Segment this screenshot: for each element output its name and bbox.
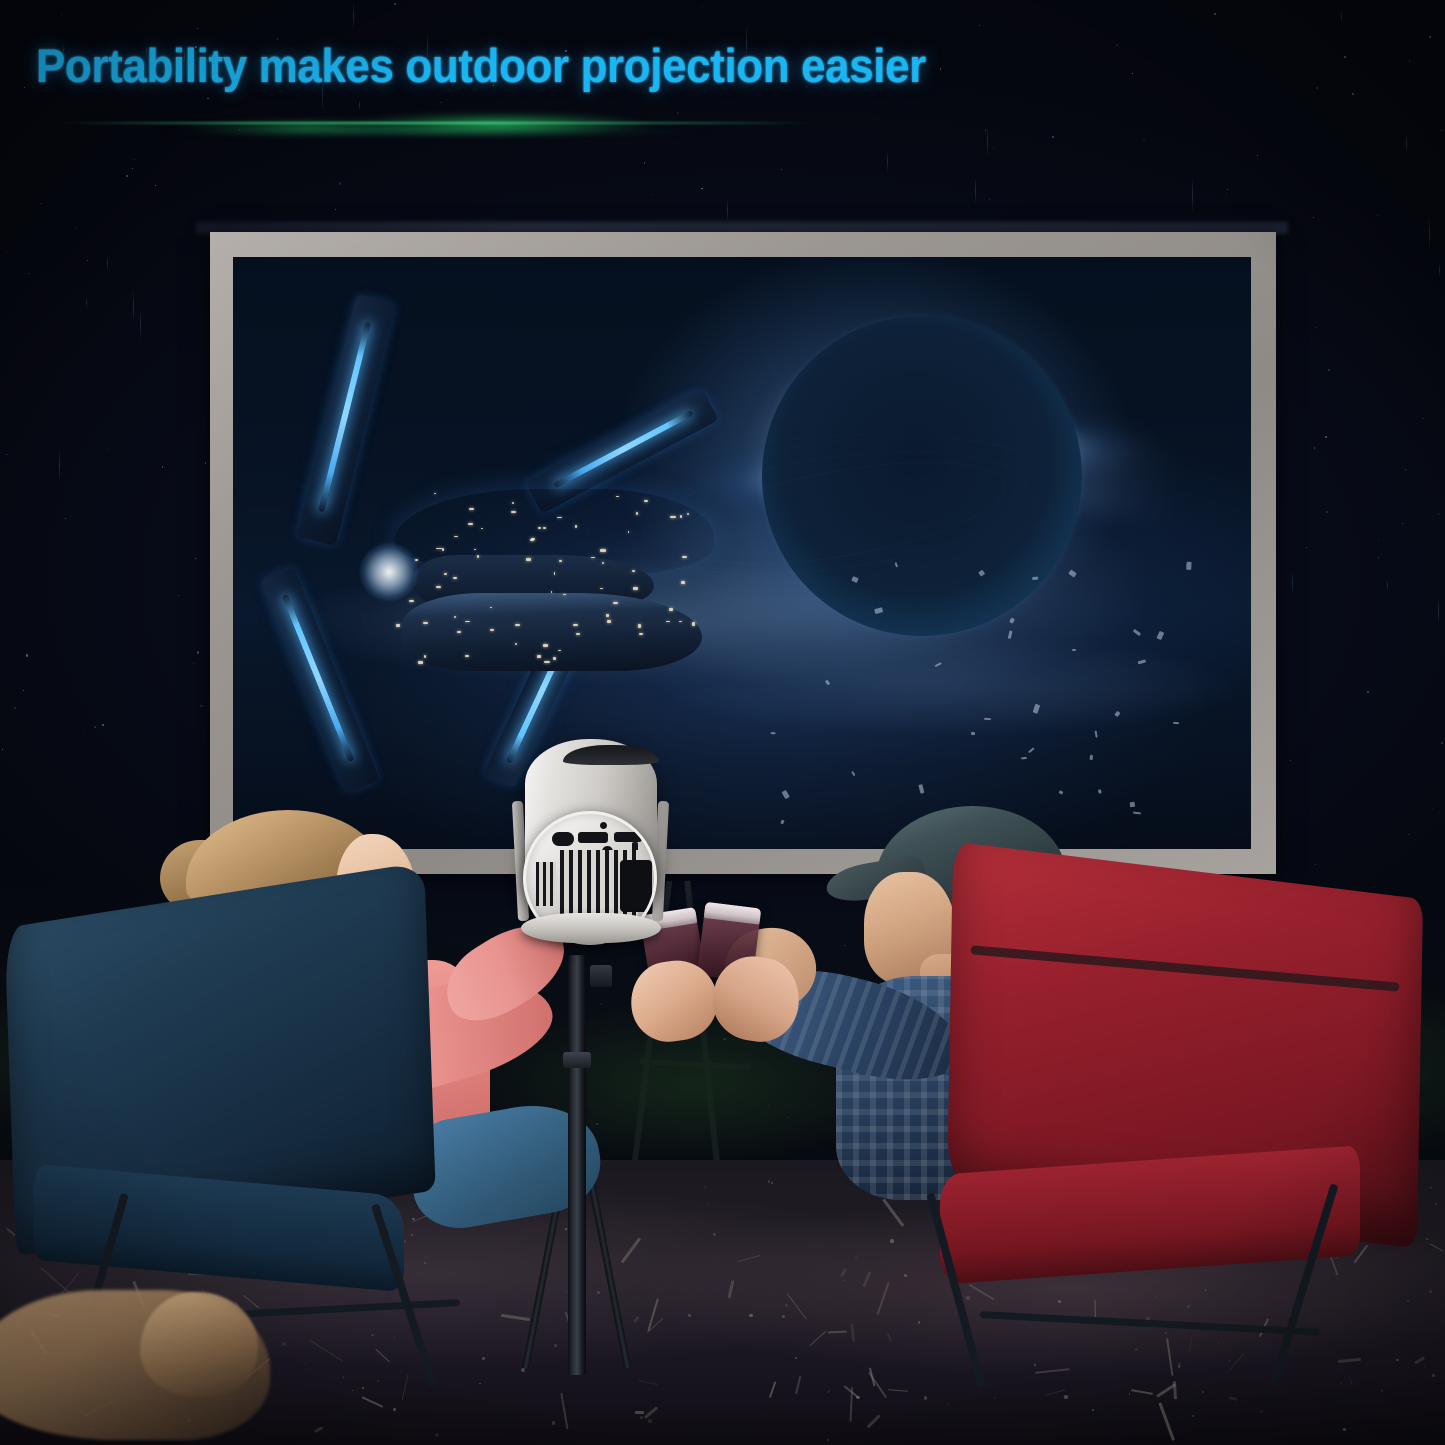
star-streak	[1292, 571, 1293, 595]
ground-speck	[1192, 1415, 1194, 1417]
star-streak	[59, 448, 60, 482]
star-speck	[701, 188, 703, 190]
ship-engine-flare	[360, 543, 418, 601]
star-streak	[1438, 597, 1439, 625]
ship-window-light	[543, 644, 548, 647]
ground-speck	[521, 1368, 525, 1372]
ground-speck	[704, 1186, 706, 1188]
projector-port-oval[interactable]	[552, 832, 574, 846]
star-speck	[41, 203, 42, 204]
space-debris	[771, 732, 776, 734]
star-speck	[1328, 369, 1330, 371]
star-streak	[1439, 262, 1440, 276]
ship-window-light	[537, 655, 541, 658]
blue-camping-chair	[0, 880, 460, 1350]
projector-side-grill	[536, 862, 556, 906]
star-speck	[1438, 514, 1439, 515]
ground-speck	[918, 1321, 920, 1323]
ground-speck	[305, 1363, 306, 1364]
star-speck	[1325, 436, 1327, 438]
projector-port-usb[interactable]	[614, 832, 642, 842]
star-speck	[989, 199, 991, 201]
projector-top-vent	[563, 745, 659, 765]
ship-window-light	[558, 650, 560, 651]
ground-speck	[924, 1396, 927, 1399]
star-speck	[677, 112, 679, 114]
ship-strut-upper-left	[296, 293, 395, 545]
space-debris	[1090, 755, 1093, 760]
star-speck	[1132, 73, 1133, 74]
star-speck	[1408, 834, 1409, 835]
star-speck	[1344, 56, 1346, 58]
ship-window-light	[639, 633, 643, 635]
star-speck	[197, 651, 199, 653]
star-speck	[200, 705, 202, 707]
star-speck	[178, 595, 179, 596]
star-speck	[205, 462, 207, 464]
projector-dark-panel	[620, 860, 652, 912]
ground-speck	[827, 1439, 829, 1441]
ship-window-light	[515, 624, 520, 626]
star-speck	[394, 3, 396, 5]
star-speck	[1227, 189, 1228, 190]
ship-window-light	[454, 536, 459, 537]
star-speck	[61, 14, 62, 15]
star-streak	[107, 255, 108, 271]
green-glow-line	[58, 122, 818, 124]
ship-window-light	[418, 661, 423, 664]
projector-indicator-led	[600, 822, 607, 829]
star-speck	[1409, 60, 1411, 62]
star-speck	[1052, 136, 1054, 138]
ground-speck	[1092, 1409, 1094, 1411]
ship-window-light	[444, 573, 446, 574]
ground-speck	[785, 1304, 788, 1307]
ground-speck	[565, 1228, 567, 1230]
projection-screen	[210, 232, 1276, 874]
space-debris	[983, 718, 990, 720]
ground-speck	[994, 1397, 996, 1399]
ground-speck	[749, 1314, 753, 1318]
ship-window-light	[679, 621, 682, 622]
ship-window-light	[465, 655, 469, 658]
star-speck	[87, 260, 88, 261]
star-streak	[1341, 10, 1342, 24]
star-speck	[126, 175, 128, 177]
ship-window-light	[600, 588, 603, 589]
star-speck	[1441, 742, 1443, 744]
ship-window-light	[576, 633, 580, 635]
projected-image	[233, 257, 1251, 849]
star-speck	[702, 6, 703, 7]
star-streak	[1387, 580, 1388, 590]
star-speck	[335, 209, 336, 210]
ground-speck	[1129, 1393, 1130, 1394]
star-speck	[1226, 193, 1227, 194]
star-speck	[197, 28, 198, 29]
ground-speck	[1202, 1391, 1203, 1392]
star-speck	[644, 162, 646, 164]
star-speck	[6, 251, 7, 252]
tripod-adjust-knob[interactable]	[590, 965, 612, 987]
star-speck	[1405, 469, 1406, 470]
star-speck	[195, 558, 196, 559]
star-speck	[1314, 447, 1316, 449]
star-speck	[14, 707, 16, 709]
ship-window-light	[434, 493, 436, 495]
star-speck	[1313, 217, 1314, 218]
star-streak	[1429, 217, 1430, 251]
ship-window-light	[424, 655, 426, 658]
star-streak	[140, 310, 141, 340]
star-speck	[1378, 540, 1379, 541]
star-speck	[441, 102, 442, 103]
ground-speck	[393, 1408, 395, 1410]
star-streak	[1192, 177, 1193, 213]
star-speck	[94, 726, 96, 728]
star-speck	[1116, 44, 1118, 46]
ship-window-light	[465, 621, 470, 622]
ship-window-light	[436, 586, 441, 588]
star-speck	[651, 194, 652, 195]
star-speck	[134, 159, 135, 160]
cup-rim-right	[704, 902, 762, 925]
star-speck	[26, 654, 28, 656]
headline-container: Portability makes outdoor projection eas…	[36, 32, 1096, 98]
star-speck	[1214, 13, 1216, 15]
star-speck	[1315, 327, 1316, 328]
star-streak	[727, 199, 728, 223]
ship-window-light	[551, 591, 553, 592]
ground-speck	[640, 1416, 643, 1419]
star-streak	[359, 100, 360, 110]
ground-speck	[554, 1344, 557, 1347]
star-speck	[1306, 547, 1307, 548]
ship-window-light	[607, 620, 610, 623]
space-debris	[971, 731, 975, 735]
star-speck	[1441, 130, 1442, 131]
star-speck	[6, 454, 7, 455]
tripod-collar	[563, 1052, 591, 1068]
ship-window-light	[481, 528, 483, 529]
ground-speck	[1432, 1374, 1435, 1377]
star-speck	[102, 724, 104, 726]
ship-window-light	[469, 508, 474, 510]
ground-speck	[1064, 1395, 1068, 1399]
ground-speck	[1340, 1382, 1343, 1385]
ship-window-light	[490, 607, 492, 609]
star-speck	[2, 749, 3, 750]
star-streak	[1406, 132, 1407, 154]
star-speck	[985, 130, 986, 131]
star-speck	[1378, 557, 1379, 558]
tripod-pole	[568, 955, 586, 1375]
ship-window-light	[396, 624, 400, 627]
ground-speck	[648, 1419, 652, 1423]
dog-head	[140, 1292, 258, 1396]
ground-speck	[435, 1433, 439, 1437]
red-camping-chair	[940, 860, 1445, 1370]
star-streak	[987, 126, 988, 157]
star-speck	[339, 182, 341, 184]
star-speck	[1316, 87, 1317, 88]
ship-window-light	[423, 622, 428, 624]
star-speck	[162, 466, 163, 467]
star-speck	[24, 87, 25, 88]
ground-speck	[352, 1390, 353, 1391]
star-speck	[1352, 93, 1354, 95]
projector-port-hdmi[interactable]	[578, 832, 608, 843]
ship-window-light	[526, 558, 531, 561]
ship-strut-lower-left	[260, 566, 380, 793]
star-streak	[975, 177, 976, 204]
star-speck	[65, 518, 66, 519]
star-speck	[76, 227, 77, 228]
star-speck	[993, 147, 994, 148]
star-speck	[1143, 140, 1144, 141]
ground-speck	[827, 1390, 830, 1393]
star-speck	[1432, 808, 1433, 809]
star-speck	[1422, 418, 1424, 420]
ground-speck	[1260, 1410, 1263, 1413]
star-streak	[86, 297, 87, 307]
star-speck	[1367, 691, 1369, 693]
star-speck	[1290, 760, 1291, 761]
ship-window-light	[415, 559, 419, 561]
ship-window-light	[442, 548, 445, 551]
star-streak	[133, 289, 134, 325]
star-speck	[132, 168, 133, 169]
ship-window-light	[692, 622, 695, 625]
star-speck	[1377, 215, 1378, 216]
star-speck	[108, 449, 109, 450]
star-streak	[353, 1, 354, 30]
star-speck	[979, 25, 980, 26]
ground-twig	[635, 1411, 644, 1414]
star-speck	[28, 273, 29, 274]
ship-window-light	[573, 624, 578, 627]
promo-scene: Portability makes outdoor projection eas…	[0, 0, 1445, 1445]
star-speck	[1257, 155, 1258, 156]
ship-window-light	[457, 631, 461, 633]
ground-speck	[552, 1421, 556, 1425]
ground-speck	[597, 1291, 600, 1294]
ground-twig	[1173, 1381, 1177, 1399]
star-speck	[84, 730, 85, 731]
star-speck	[781, 169, 782, 170]
star-speck	[155, 185, 156, 186]
ship-window-light	[666, 621, 669, 622]
ship-window-light	[453, 577, 457, 579]
projector-base-plate	[521, 913, 661, 943]
ship-window-light	[544, 661, 549, 664]
star-speck	[1326, 511, 1328, 513]
star-speck	[1429, 36, 1431, 38]
ground-speck	[948, 1404, 949, 1405]
ground-speck	[1343, 1428, 1346, 1431]
star-speck	[207, 98, 208, 99]
ship-window-light	[606, 614, 609, 617]
space-debris	[1185, 562, 1191, 570]
star-speck	[23, 690, 24, 691]
portable-projector[interactable]	[505, 735, 675, 960]
page-title: Portability makes outdoor projection eas…	[36, 38, 926, 93]
star-streak	[887, 151, 888, 171]
star-speck	[193, 663, 194, 664]
star-speck	[1402, 523, 1403, 524]
ship-window-light	[409, 600, 413, 602]
star-speck	[239, 129, 240, 130]
